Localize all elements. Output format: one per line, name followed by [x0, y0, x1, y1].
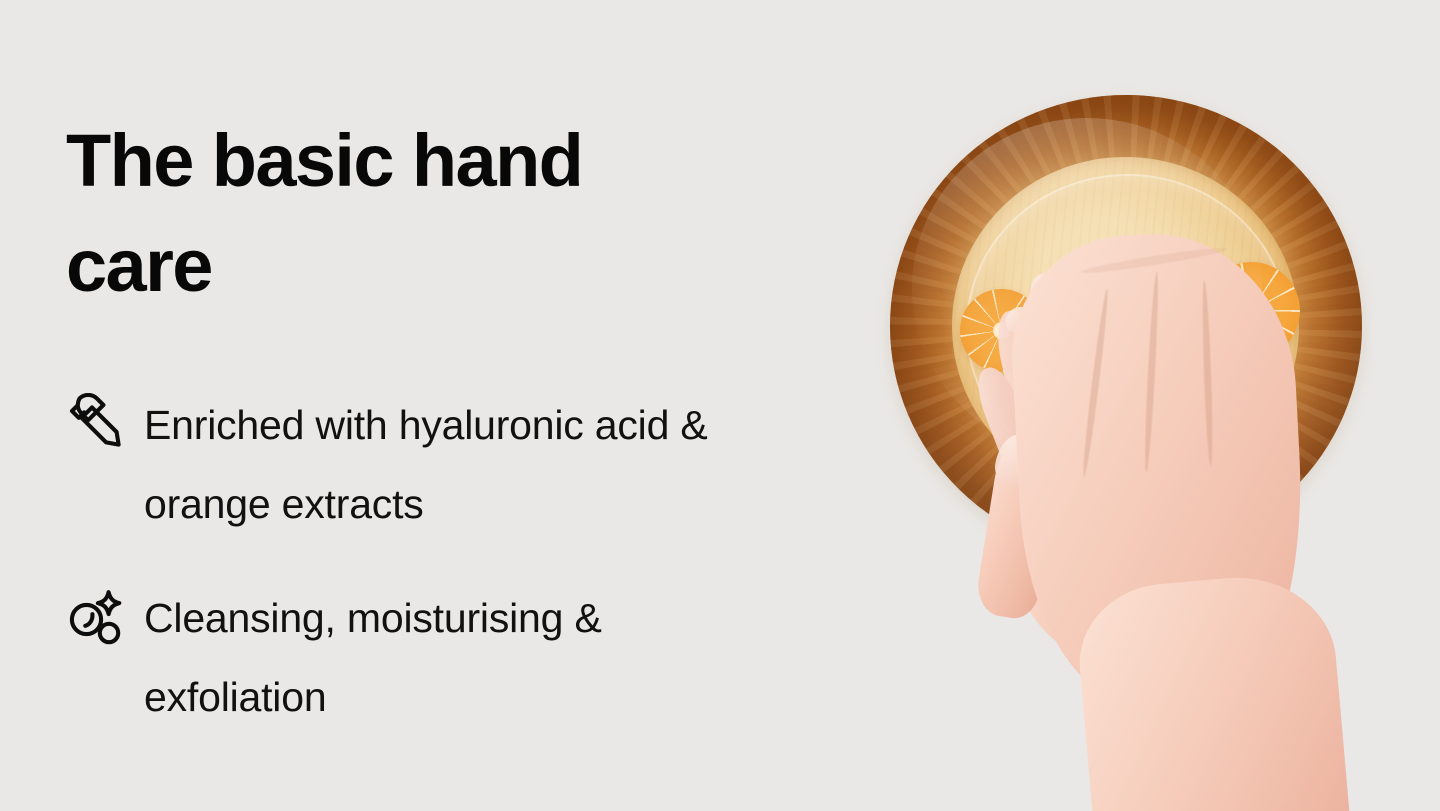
page-title: The basic hand care [66, 108, 766, 318]
hand-lower [988, 330, 1318, 811]
bubbles-sparkle-icon [66, 579, 144, 649]
dropper-icon [66, 386, 144, 456]
text-content-column: The basic hand care En [66, 0, 856, 811]
photo-left-fade [840, 0, 886, 811]
feature-item-hyaluronic: Enriched with hyaluronic acid & orange e… [66, 386, 826, 544]
feature-list: Enriched with hyaluronic acid & orange e… [66, 386, 826, 773]
product-lifestyle-photo [840, 0, 1440, 811]
feature-label: Enriched with hyaluronic acid & orange e… [144, 386, 734, 544]
feature-label: Cleansing, moisturising & exfoliation [144, 579, 734, 737]
wrist [1073, 569, 1351, 811]
feature-item-cleansing: Cleansing, moisturising & exfoliation [66, 579, 826, 737]
hand-care-promo-banner: The basic hand care En [0, 0, 1440, 811]
